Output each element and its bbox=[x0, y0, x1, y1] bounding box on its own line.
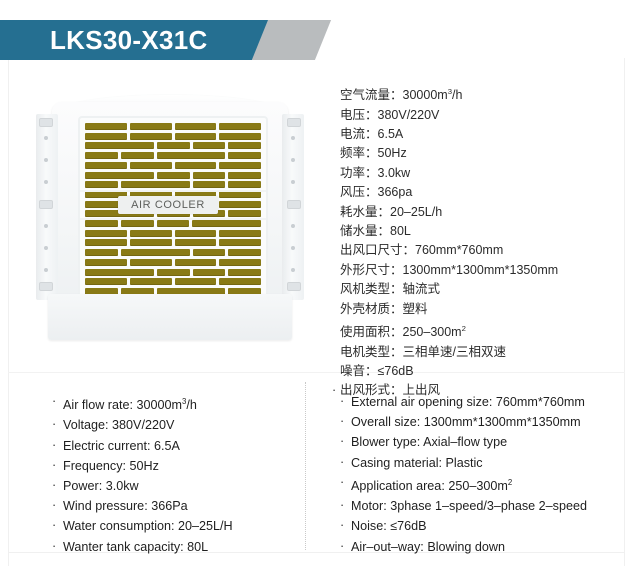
spec-value: 20–25L/H bbox=[178, 519, 233, 533]
side-hinge-icon bbox=[44, 180, 48, 184]
side-hinge-icon bbox=[291, 180, 295, 184]
spec-row: ·Water consumption: 20–25L/H bbox=[52, 516, 302, 536]
grille-slat bbox=[157, 152, 226, 159]
spec-label: Overall size: bbox=[351, 415, 424, 429]
unit-grille-panel: AIR COOLER bbox=[78, 116, 268, 302]
spec-label: Application area: bbox=[351, 479, 448, 493]
grille-slat bbox=[175, 162, 217, 169]
spec-row: ·Overall size: 1300mm*1300mm*1350mm bbox=[340, 412, 630, 432]
grille-slat bbox=[85, 181, 118, 188]
spec-row: ·Noise: ≤76dB bbox=[340, 516, 630, 536]
spec-value: Blowing down bbox=[427, 540, 505, 554]
spec-row: ·Motor: 3phase 1–speed/3–phase 2–speed bbox=[340, 496, 630, 516]
spec-value: 6.5A bbox=[154, 439, 180, 453]
specifications-english-left: ·Air flow rate: 30000m3/h·Voltage: 380V/… bbox=[52, 392, 302, 557]
spec-row: ·Casing material: Plastic bbox=[340, 453, 630, 473]
spec-label: Frequency: bbox=[63, 459, 130, 473]
grille-slat-row bbox=[85, 181, 261, 188]
column-divider-dotted bbox=[305, 382, 306, 550]
unit-side-panel-left bbox=[36, 114, 58, 300]
grille-slat-row bbox=[85, 278, 261, 285]
grille-slat bbox=[228, 269, 261, 276]
grille-slat bbox=[219, 230, 261, 237]
spec-label: 耗水量： bbox=[340, 205, 390, 219]
list-bullet: · bbox=[52, 435, 56, 455]
side-latch-icon bbox=[287, 200, 301, 209]
spec-row: 噪音：≤76dB bbox=[340, 362, 630, 381]
grille-slat bbox=[228, 210, 261, 217]
grille-slat-row bbox=[85, 123, 261, 130]
spec-value: 轴流式 bbox=[403, 282, 441, 296]
spec-row: ·Air flow rate: 30000m3/h bbox=[52, 392, 302, 415]
spec-label: Casing material: bbox=[351, 456, 446, 470]
specifications-english-right: ·External air opening size: 760mm*760mm·… bbox=[340, 392, 630, 557]
spec-label: Wanter tank capacity: bbox=[63, 540, 187, 554]
product-image-air-cooler: AIR COOLER bbox=[34, 86, 306, 358]
side-hinge-icon bbox=[291, 136, 295, 140]
grille-slat bbox=[130, 230, 172, 237]
side-hinge-icon bbox=[44, 224, 48, 228]
model-title: LKS30-X31C bbox=[50, 20, 208, 60]
list-bullet: · bbox=[340, 411, 344, 431]
list-bullet: · bbox=[340, 536, 344, 556]
spec-value: 366Pa bbox=[151, 499, 187, 513]
grille-slat bbox=[228, 249, 261, 256]
grille-slat bbox=[85, 269, 154, 276]
list-bullet: · bbox=[340, 452, 344, 472]
grille-slat bbox=[130, 162, 172, 169]
side-latch-icon bbox=[287, 118, 301, 127]
spec-value: ≤76dB bbox=[390, 519, 426, 533]
spec-value: 20–25L/h bbox=[390, 205, 442, 219]
side-hinge-icon bbox=[44, 268, 48, 272]
grille-slat-row bbox=[85, 142, 261, 149]
list-bullet: · bbox=[340, 515, 344, 535]
unit-base bbox=[48, 294, 292, 340]
spec-row: ·Power: 3.0kw bbox=[52, 476, 302, 496]
spec-row: ·Blower type: Axial–flow type bbox=[340, 432, 630, 452]
grille-slat bbox=[85, 230, 127, 237]
spec-row: ·Frequency: 50Hz bbox=[52, 456, 302, 476]
grille-slat bbox=[192, 220, 261, 227]
grille-slat-row bbox=[85, 152, 261, 159]
grille-slat bbox=[121, 181, 190, 188]
grille-slat bbox=[219, 123, 261, 130]
grille-slat bbox=[228, 152, 261, 159]
grille-slat bbox=[85, 278, 127, 285]
spec-row: 外形尺寸：1300mm*1300mm*1350mm bbox=[340, 261, 630, 280]
grille-slat bbox=[193, 142, 226, 149]
grille-slat bbox=[85, 133, 127, 140]
grille-slat bbox=[175, 239, 217, 246]
grille-divider bbox=[80, 190, 266, 192]
spec-value: 1300mm*1300mm*1350mm bbox=[403, 263, 559, 277]
grille-slat bbox=[85, 249, 118, 256]
spec-value-superscript: 2 bbox=[462, 324, 466, 333]
spec-row: ·Air–out–way: Blowing down bbox=[340, 537, 630, 557]
grille-slat bbox=[85, 152, 118, 159]
spec-label: 风压： bbox=[340, 185, 378, 199]
spec-label: 出风口尺寸： bbox=[340, 243, 415, 257]
spec-value: 380V/220V bbox=[112, 418, 174, 432]
side-latch-icon bbox=[287, 282, 301, 291]
grille-slat bbox=[157, 220, 190, 227]
unit-side-panel-right bbox=[282, 114, 304, 300]
spec-row: ·Wanter tank capacity: 80L bbox=[52, 537, 302, 557]
grille-slat bbox=[85, 239, 127, 246]
grille-slat bbox=[121, 220, 154, 227]
grille-slat bbox=[193, 172, 226, 179]
spec-row: 使用面积：250–300m2 bbox=[340, 319, 630, 343]
spec-row: 风压：366pa bbox=[340, 183, 630, 202]
spec-row: 储水量：80L bbox=[340, 222, 630, 241]
list-bullet: · bbox=[340, 495, 344, 515]
side-latch-icon bbox=[39, 282, 53, 291]
grille-slat bbox=[85, 142, 154, 149]
spec-value: 1300mm*1300mm*1350mm bbox=[424, 415, 581, 429]
spec-label: Voltage: bbox=[63, 418, 112, 432]
spec-label: Blower type: bbox=[351, 435, 423, 449]
spec-label: Water consumption: bbox=[63, 519, 178, 533]
list-bullet: · bbox=[52, 536, 56, 556]
grille-slat bbox=[193, 269, 226, 276]
side-latch-icon bbox=[39, 200, 53, 209]
spec-value: 380V/220V bbox=[378, 108, 440, 122]
grille-slat-row bbox=[85, 220, 261, 227]
side-hinge-icon bbox=[291, 158, 295, 162]
grille-slat bbox=[85, 123, 127, 130]
spec-row: ·Wind pressure: 366Pa bbox=[52, 496, 302, 516]
grille-slat bbox=[157, 142, 190, 149]
grille-divider bbox=[80, 218, 266, 220]
spec-label: 储水量： bbox=[340, 224, 390, 238]
grille-slat bbox=[130, 239, 172, 246]
spec-value: 250–300m bbox=[448, 479, 508, 493]
spec-value: 塑料 bbox=[403, 302, 428, 316]
spec-value: 6.5A bbox=[378, 127, 404, 141]
spec-value: 30000m bbox=[403, 88, 448, 102]
grille-slat-row bbox=[85, 172, 261, 179]
spec-value: 250–300m bbox=[403, 325, 462, 339]
grille-slat bbox=[157, 172, 190, 179]
list-bullet: · bbox=[52, 455, 56, 475]
grille-slat bbox=[157, 269, 190, 276]
spec-label: 外形尺寸： bbox=[340, 263, 403, 277]
spec-label: 使用面积： bbox=[340, 325, 403, 339]
spec-value-superscript: 2 bbox=[508, 478, 512, 487]
spec-value: 760mm*760mm bbox=[496, 395, 585, 409]
grille-slat-row bbox=[85, 249, 261, 256]
grille-slat-row bbox=[85, 239, 261, 246]
grille-slat bbox=[219, 239, 261, 246]
grille-slat bbox=[130, 278, 172, 285]
spec-value: 80L bbox=[187, 540, 208, 554]
grille-slat-row bbox=[85, 230, 261, 237]
side-hinge-icon bbox=[44, 246, 48, 250]
side-hinge-icon bbox=[44, 158, 48, 162]
side-hinge-icon bbox=[291, 224, 295, 228]
grille-slat bbox=[219, 278, 261, 285]
spec-value: 80L bbox=[390, 224, 411, 238]
air-cooler-label: AIR COOLER bbox=[118, 196, 218, 214]
spec-label: Air–out–way: bbox=[351, 540, 427, 554]
spec-label: Air flow rate: bbox=[63, 398, 136, 412]
grille-slat bbox=[228, 142, 261, 149]
side-latch-icon bbox=[39, 118, 53, 127]
spec-value: ≤76dB bbox=[378, 364, 414, 378]
grille-slat-row bbox=[85, 133, 261, 140]
spec-label: 功率： bbox=[340, 166, 378, 180]
spec-label: 外壳材质： bbox=[340, 302, 403, 316]
list-bullet: · bbox=[52, 495, 56, 515]
spec-label: 噪音： bbox=[340, 364, 378, 378]
spec-label: Noise: bbox=[351, 519, 390, 533]
spec-value: 3.0kw bbox=[378, 166, 411, 180]
grille-slat-row bbox=[85, 269, 261, 276]
spec-label: 空气流量： bbox=[340, 88, 403, 102]
side-hinge-icon bbox=[44, 136, 48, 140]
list-bullet: · bbox=[332, 381, 336, 400]
grille-slat bbox=[121, 152, 154, 159]
spec-value: Plastic bbox=[446, 456, 483, 470]
model-banner: LKS30-X31C bbox=[0, 20, 330, 60]
grille-slat bbox=[175, 230, 217, 237]
grille-slat-row bbox=[85, 162, 261, 169]
spec-value: Axial–flow type bbox=[423, 435, 507, 449]
side-hinge-icon bbox=[291, 268, 295, 272]
spec-label: 频率： bbox=[340, 146, 378, 160]
spec-label: 电机类型： bbox=[340, 345, 403, 359]
spec-row: 风机类型：轴流式 bbox=[340, 280, 630, 299]
spec-row: 耗水量：20–25L/h bbox=[340, 203, 630, 222]
side-hinge-icon bbox=[291, 246, 295, 250]
spec-row: 出风口尺寸：760mm*760mm bbox=[340, 241, 630, 260]
grille-slat bbox=[85, 172, 154, 179]
grille-slat bbox=[175, 278, 217, 285]
grille-slat bbox=[130, 259, 172, 266]
grille-slat bbox=[85, 220, 118, 227]
list-bullet: · bbox=[340, 431, 344, 451]
list-bullet: · bbox=[52, 515, 56, 535]
spec-row: ·Application area: 250–300m2 bbox=[340, 473, 630, 496]
spec-row: 空气流量：30000m3/h bbox=[340, 82, 630, 106]
spec-label: Wind pressure: bbox=[63, 499, 151, 513]
list-bullet: · bbox=[340, 391, 344, 411]
spec-row: 频率：50Hz bbox=[340, 144, 630, 163]
spec-row: ·Electric current: 6.5A bbox=[52, 436, 302, 456]
spec-sheet-page: LKS30-X31C bbox=[0, 0, 640, 566]
list-bullet: · bbox=[52, 391, 56, 411]
spec-row: 功率：3.0kw bbox=[340, 164, 630, 183]
spec-row: 外壳材质：塑料 bbox=[340, 300, 630, 319]
grille-slat bbox=[85, 259, 127, 266]
spec-value: 50Hz bbox=[378, 146, 407, 160]
grille-slat bbox=[175, 133, 217, 140]
spec-value: 366pa bbox=[378, 185, 413, 199]
spec-value: 三相单速/三相双速 bbox=[403, 345, 506, 359]
grille-slat bbox=[193, 181, 226, 188]
spec-value-unit: /h bbox=[452, 88, 462, 102]
spec-label: External air opening size: bbox=[351, 395, 496, 409]
spec-label: Motor: bbox=[351, 499, 390, 513]
specifications-chinese: 空气流量：30000m3/h电压：380V/220V电流：6.5A频率：50Hz… bbox=[340, 82, 630, 401]
grille-slat bbox=[219, 201, 261, 208]
grille-slat bbox=[175, 123, 217, 130]
spec-label: 电压： bbox=[340, 108, 378, 122]
grille-slat bbox=[219, 259, 261, 266]
list-bullet: · bbox=[52, 414, 56, 434]
spec-value: 3phase 1–speed/3–phase 2–speed bbox=[390, 499, 587, 513]
grille-slat bbox=[130, 123, 172, 130]
grille-slat bbox=[228, 181, 261, 188]
panel-border-left bbox=[8, 58, 9, 566]
grille-slat bbox=[175, 259, 217, 266]
grille-slat bbox=[85, 162, 127, 169]
grille-slat bbox=[130, 133, 172, 140]
spec-row: ·Voltage: 380V/220V bbox=[52, 415, 302, 435]
grille-slat-row bbox=[85, 259, 261, 266]
spec-label: Power: bbox=[63, 479, 106, 493]
spec-label: 风机类型： bbox=[340, 282, 403, 296]
spec-row: 电压：380V/220V bbox=[340, 106, 630, 125]
grille-slat bbox=[219, 162, 261, 169]
grille-slat bbox=[193, 249, 226, 256]
spec-value: 30000m bbox=[136, 398, 182, 412]
spec-label: 电流： bbox=[340, 127, 378, 141]
list-bullet: · bbox=[52, 475, 56, 495]
spec-value: 50Hz bbox=[130, 459, 159, 473]
spec-row: ·External air opening size: 760mm*760mm bbox=[340, 392, 630, 412]
spec-value-unit: /h bbox=[186, 398, 197, 412]
grille-slat bbox=[228, 172, 261, 179]
grille-slat bbox=[121, 249, 190, 256]
spec-row: 电机类型：三相单速/三相双速 bbox=[340, 343, 630, 362]
list-bullet: · bbox=[340, 472, 344, 492]
spec-value: 760mm*760mm bbox=[415, 243, 503, 257]
grille-slat bbox=[219, 133, 261, 140]
spec-row: 电流：6.5A bbox=[340, 125, 630, 144]
spec-label: Electric current: bbox=[63, 439, 154, 453]
spec-value: 3.0kw bbox=[106, 479, 139, 493]
